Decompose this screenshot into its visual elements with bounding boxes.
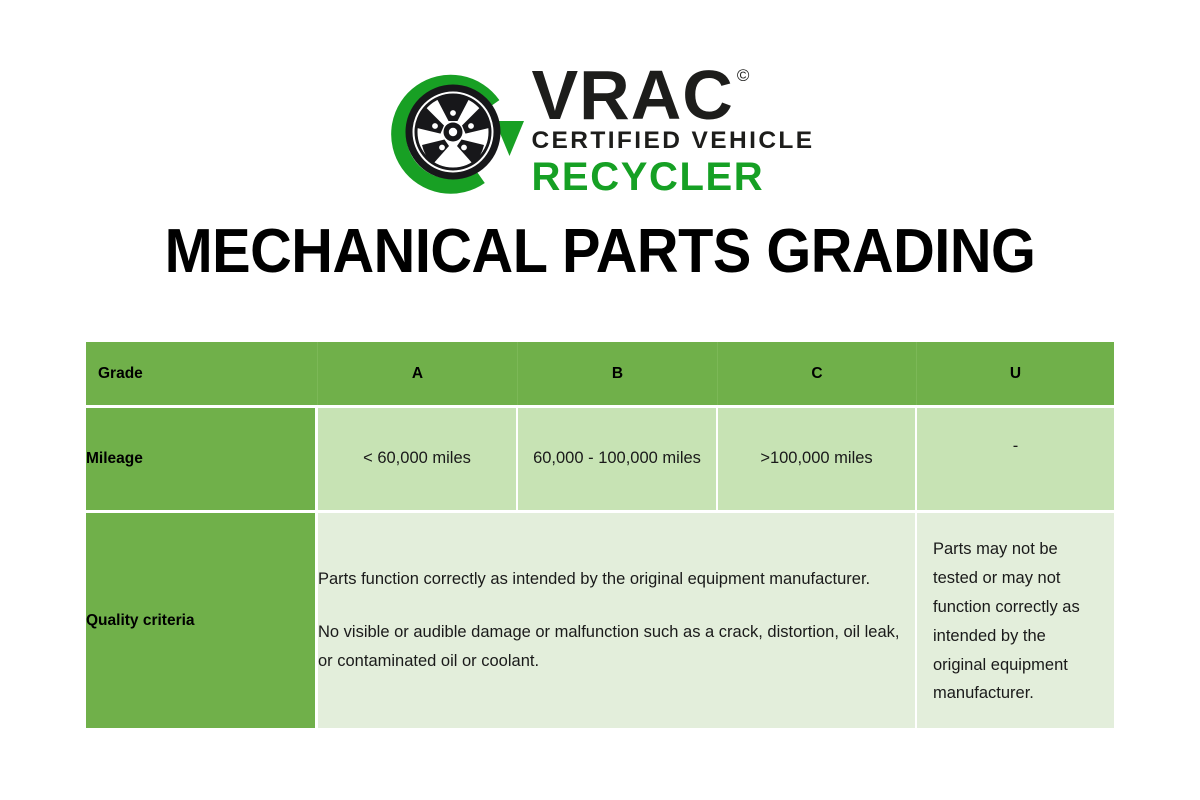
logo-recycler-word: RECYCLER bbox=[531, 156, 764, 198]
header-cell-a: A bbox=[318, 342, 518, 405]
page-title: MECHANICAL PARTS GRADING bbox=[42, 216, 1158, 287]
quality-criteria-paragraph-2: No visible or audible damage or malfunct… bbox=[318, 618, 915, 676]
mileage-cell-c: >100,000 miles bbox=[718, 405, 917, 510]
row-label-mileage: Mileage bbox=[86, 405, 318, 510]
quality-criteria-cell-abc: Parts function correctly as intended by … bbox=[318, 510, 917, 728]
mileage-cell-a: < 60,000 miles bbox=[318, 405, 518, 510]
logo-brand-ac: AC bbox=[631, 63, 734, 127]
logo-tagline: CERTIFIED VEHICLE bbox=[531, 128, 814, 155]
table-header-row: Grade A B C U bbox=[86, 342, 1114, 405]
table-row-mileage: Mileage < 60,000 miles 60,000 - 100,000 … bbox=[86, 405, 1114, 510]
logo-brand-v: V bbox=[531, 63, 579, 127]
row-label-quality-criteria: Quality criteria bbox=[86, 510, 318, 728]
header-cell-u: U bbox=[917, 342, 1114, 405]
brand-logo: VRAC © CERTIFIED VEHICLE RECYCLER bbox=[0, 52, 1200, 207]
logo-brand-line: VRAC © bbox=[531, 63, 749, 127]
logo-inner: VRAC © CERTIFIED VEHICLE RECYCLER bbox=[385, 59, 814, 201]
logo-wordmark: VRAC © CERTIFIED VEHICLE RECYCLER bbox=[531, 61, 814, 198]
table-row-quality-criteria: Quality criteria Parts function correctl… bbox=[86, 510, 1114, 728]
mechanical-parts-grading-table: Grade A B C U Mileage < 60,000 miles 60,… bbox=[86, 342, 1114, 728]
header-cell-grade: Grade bbox=[86, 342, 318, 405]
recycle-wheel-icon bbox=[385, 59, 527, 201]
mileage-cell-u: - bbox=[917, 405, 1114, 510]
header-cell-c: C bbox=[718, 342, 917, 405]
quality-criteria-cell-u: Parts may not be tested or may not funct… bbox=[917, 510, 1114, 728]
quality-criteria-paragraph-1: Parts function correctly as intended by … bbox=[318, 565, 915, 594]
copyright-icon: © bbox=[737, 67, 750, 84]
mileage-cell-b: 60,000 - 100,000 miles bbox=[518, 405, 718, 510]
logo-brand-r: R bbox=[579, 63, 631, 127]
header-cell-b: B bbox=[518, 342, 718, 405]
